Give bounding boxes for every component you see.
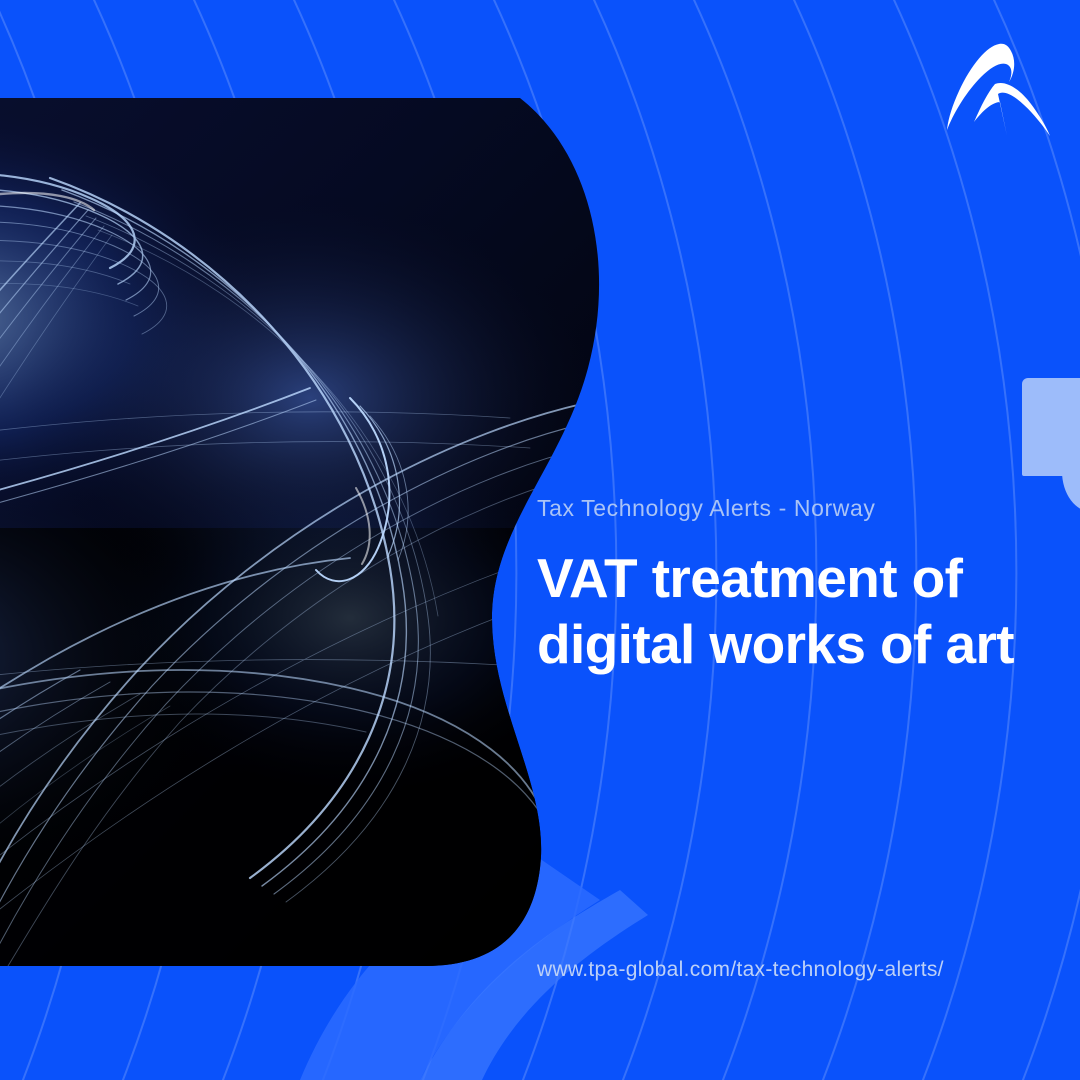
kicker-label: Tax Technology Alerts - Norway [537,495,1057,523]
tpa-global-logo[interactable] [943,36,1053,140]
page-title: VAT treatment of digital works of art [537,545,1057,677]
headline-line-1: VAT treatment of [537,547,962,609]
headline-line-2: digital works of art [537,611,1057,677]
hero-artwork-panel [0,98,610,966]
text-block: Tax Technology Alerts - Norway VAT treat… [537,495,1057,677]
social-card-canvas: Tax Technology Alerts - Norway VAT treat… [0,0,1080,1080]
footer-url[interactable]: www.tpa-global.com/tax-technology-alerts… [537,958,944,982]
edge-accent-tab [1022,378,1080,476]
arc-logo-icon [943,36,1053,140]
